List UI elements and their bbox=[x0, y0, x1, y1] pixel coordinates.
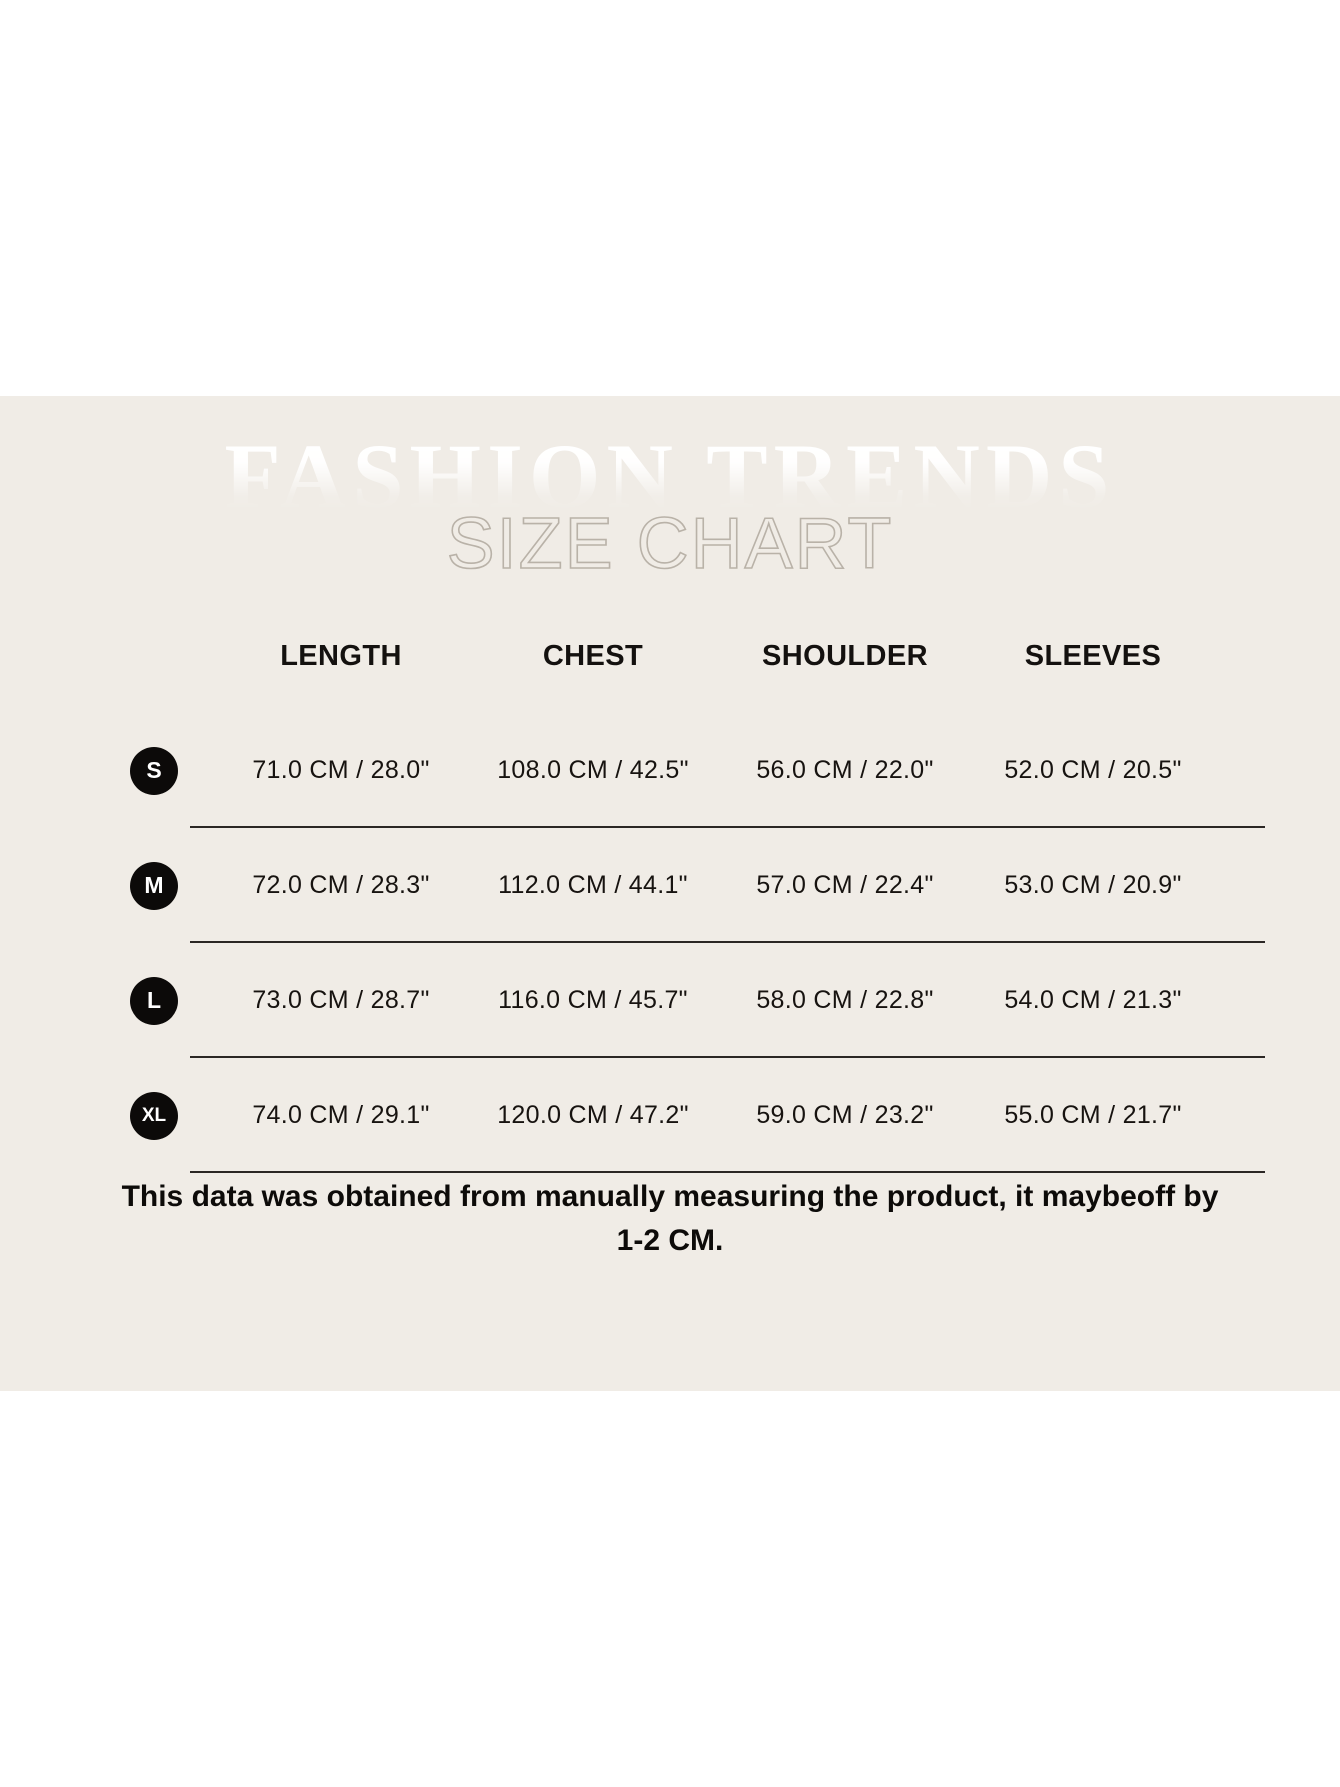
cell-chest: 112.0 CM / 44.1" bbox=[467, 871, 719, 900]
cell-chest: 120.0 CM / 47.2" bbox=[467, 1101, 719, 1130]
cell-length: 73.0 CM / 28.7" bbox=[215, 986, 467, 1015]
table-row: S 71.0 CM / 28.0" 108.0 CM / 42.5" 56.0 … bbox=[130, 713, 1265, 828]
row-cells: 74.0 CM / 29.1" 120.0 CM / 47.2" 59.0 CM… bbox=[130, 1058, 1265, 1173]
size-badge-xl: XL bbox=[130, 1092, 178, 1140]
size-badge-s: S bbox=[130, 747, 178, 795]
row-divider bbox=[190, 1171, 1265, 1173]
cell-sleeves: 52.0 CM / 20.5" bbox=[971, 756, 1215, 785]
table-header-row: LENGTH CHEST SHOULDER SLEEVES bbox=[130, 640, 1265, 673]
cell-shoulder: 59.0 CM / 23.2" bbox=[719, 1101, 971, 1130]
cell-length: 74.0 CM / 29.1" bbox=[215, 1101, 467, 1130]
size-badge-l: L bbox=[130, 977, 178, 1025]
cell-shoulder: 57.0 CM / 22.4" bbox=[719, 871, 971, 900]
cell-chest: 108.0 CM / 42.5" bbox=[467, 756, 719, 785]
cell-sleeves: 53.0 CM / 20.9" bbox=[971, 871, 1215, 900]
table-row: L 73.0 CM / 28.7" 116.0 CM / 45.7" 58.0 … bbox=[130, 943, 1265, 1058]
table-row: M 72.0 CM / 28.3" 112.0 CM / 44.1" 57.0 … bbox=[130, 828, 1265, 943]
size-badge-m: M bbox=[130, 862, 178, 910]
cell-sleeves: 55.0 CM / 21.7" bbox=[971, 1101, 1215, 1130]
page-title: SIZE CHART bbox=[0, 508, 1340, 580]
cell-chest: 116.0 CM / 45.7" bbox=[467, 986, 719, 1015]
row-cells: 73.0 CM / 28.7" 116.0 CM / 45.7" 58.0 CM… bbox=[130, 943, 1265, 1058]
column-header-shoulder: SHOULDER bbox=[719, 640, 971, 673]
cell-length: 72.0 CM / 28.3" bbox=[215, 871, 467, 900]
cell-length: 71.0 CM / 28.0" bbox=[215, 756, 467, 785]
column-header-sleeves: SLEEVES bbox=[971, 640, 1215, 673]
row-cells: 72.0 CM / 28.3" 112.0 CM / 44.1" 57.0 CM… bbox=[130, 828, 1265, 943]
table-body: S 71.0 CM / 28.0" 108.0 CM / 42.5" 56.0 … bbox=[130, 713, 1265, 1173]
cell-shoulder: 58.0 CM / 22.8" bbox=[719, 986, 971, 1015]
cell-shoulder: 56.0 CM / 22.0" bbox=[719, 756, 971, 785]
column-header-length: LENGTH bbox=[215, 640, 467, 673]
table-row: XL 74.0 CM / 29.1" 120.0 CM / 47.2" 59.0… bbox=[130, 1058, 1265, 1173]
cell-sleeves: 54.0 CM / 21.3" bbox=[971, 986, 1215, 1015]
size-table: LENGTH CHEST SHOULDER SLEEVES S 71.0 CM … bbox=[130, 640, 1265, 1173]
column-header-chest: CHEST bbox=[467, 640, 719, 673]
measurement-note: This data was obtained from manually mea… bbox=[120, 1175, 1220, 1262]
row-cells: 71.0 CM / 28.0" 108.0 CM / 42.5" 56.0 CM… bbox=[130, 713, 1265, 828]
